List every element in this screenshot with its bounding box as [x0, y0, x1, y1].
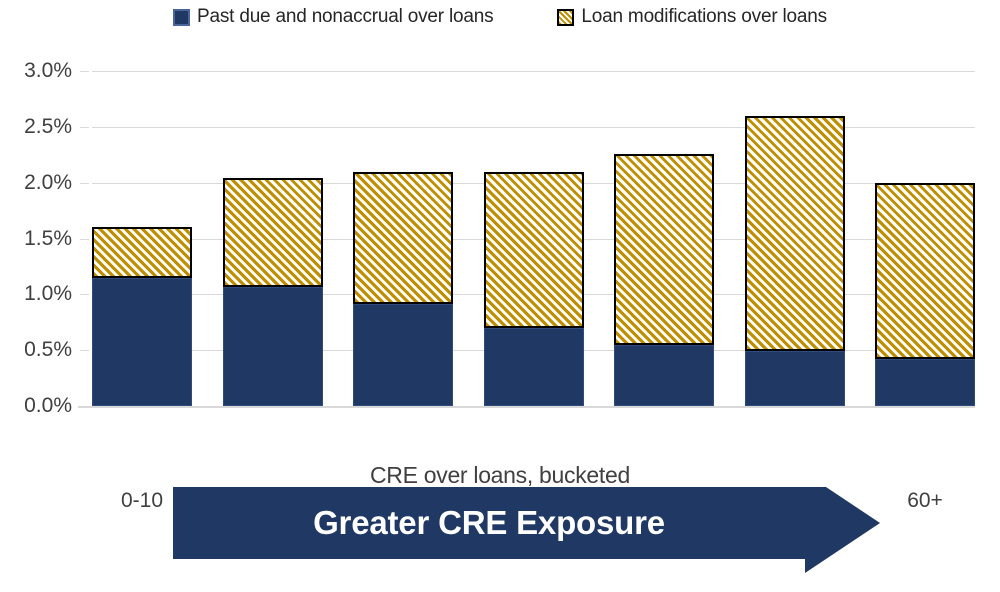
bar-segment-past-due[interactable] [745, 351, 845, 406]
y-tick-label: 0.0% [0, 394, 72, 418]
bar-segment-past-due[interactable] [353, 304, 453, 406]
bar-segment-loan-modifications[interactable] [484, 172, 584, 328]
bar-group[interactable] [484, 71, 584, 406]
y-tick-label: 2.5% [0, 115, 72, 139]
bar-group[interactable] [353, 71, 453, 406]
legend-item-label: Past due and nonaccrual over loans [197, 6, 493, 28]
x-axis-title: CRE over loans, bucketed [0, 462, 1000, 489]
y-tick-label: 2.0% [0, 171, 72, 195]
y-tick-label: 3.0% [0, 59, 72, 83]
y-tick-label: 1.0% [0, 282, 72, 306]
x-tick-label: 60+ [875, 489, 975, 513]
y-tick-mark [80, 239, 89, 240]
y-tick-label: 0.5% [0, 338, 72, 362]
bar-segment-past-due[interactable] [484, 328, 584, 406]
y-tick-mark [80, 183, 89, 184]
y-tick-mark [80, 127, 89, 128]
bar-segment-loan-modifications[interactable] [353, 172, 453, 305]
chart-legend: Past due and nonaccrual over loans Loan … [0, 0, 1000, 34]
legend-item-past-due: Past due and nonaccrual over loans [173, 6, 493, 28]
bar-segment-past-due[interactable] [875, 359, 975, 406]
y-tick-mark [80, 71, 89, 72]
bar-group[interactable] [875, 71, 975, 406]
y-tick-label: 1.5% [0, 227, 72, 251]
bar-group[interactable] [614, 71, 714, 406]
blue-square-icon [173, 9, 190, 26]
x-axis-line [78, 406, 975, 408]
legend-item-loan-modifications: Loan modifications over loans [557, 6, 827, 28]
gold-hatched-square-icon [557, 9, 574, 26]
bar-segment-loan-modifications[interactable] [92, 227, 192, 277]
y-tick-mark [80, 350, 89, 351]
arrow-right-icon [173, 487, 880, 587]
plot-area: 0-1010-2020-3030-4040-5050-6060+ [92, 71, 975, 406]
bar-group[interactable] [92, 71, 192, 406]
bar-group[interactable] [745, 71, 845, 406]
bar-segment-past-due[interactable] [92, 278, 192, 406]
bar-segment-loan-modifications[interactable] [223, 178, 323, 286]
y-tick-mark [80, 294, 89, 295]
bar-segment-loan-modifications[interactable] [614, 154, 714, 345]
bar-segment-past-due[interactable] [223, 287, 323, 406]
bar-segment-loan-modifications[interactable] [745, 116, 845, 352]
bar-segment-loan-modifications[interactable] [875, 183, 975, 359]
greater-cre-exposure-arrow: Greater CRE Exposure [173, 487, 880, 587]
bar-segment-past-due[interactable] [614, 345, 714, 406]
bar-group[interactable] [223, 71, 323, 406]
legend-item-label: Loan modifications over loans [581, 6, 827, 28]
